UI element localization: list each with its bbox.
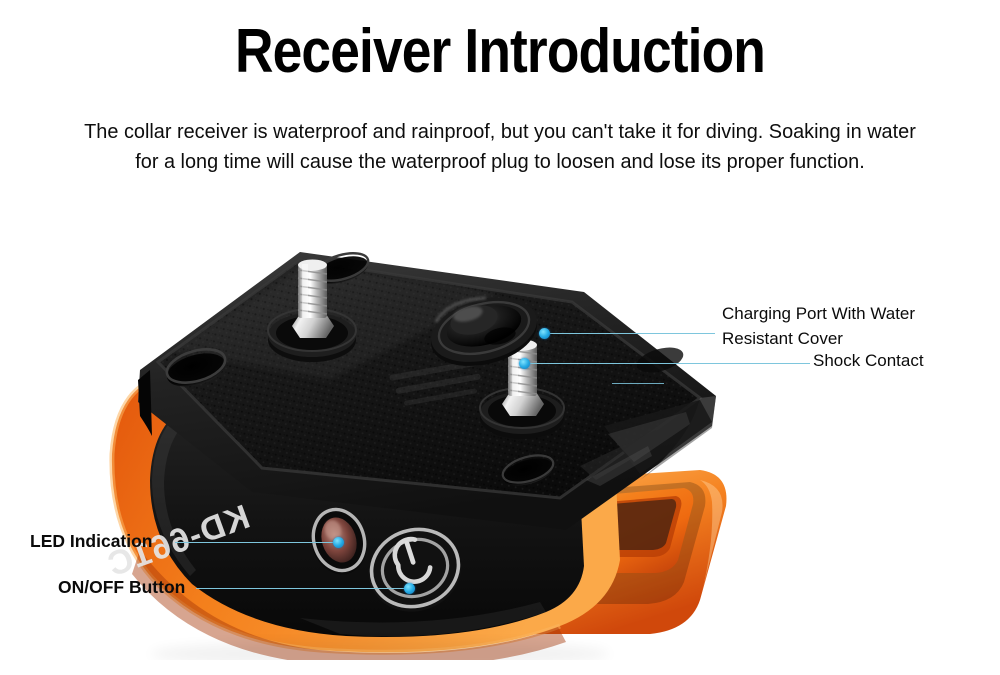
leader-line-charging-port [545, 333, 715, 334]
callout-label-charging-port: Charging Port With Water Resistant Cover [722, 301, 915, 351]
page-description: The collar receiver is waterproof and ra… [73, 117, 927, 177]
leader-line-onoff-button [196, 588, 410, 589]
leader-line-led-indication [175, 542, 339, 543]
leader-line-shock-contact [527, 363, 810, 364]
leader-line-edge-tick [612, 383, 664, 384]
callout-label-shock-contact: Shock Contact [813, 351, 924, 371]
page-title: Receiver Introduction [70, 20, 930, 84]
callout-label-onoff-button: ON/OFF Button [58, 577, 185, 598]
callout-dot-led-indication [333, 537, 344, 548]
callout-dot-charging-port [539, 328, 550, 339]
infographic-page: Receiver Introduction The collar receive… [0, 0, 1000, 675]
callout-label-charging-port-line2: Resistant Cover [722, 326, 915, 351]
callout-label-charging-port-line1: Charging Port With Water [722, 301, 915, 326]
callout-dot-shock-contact [519, 358, 530, 369]
callout-dot-onoff-button [404, 583, 415, 594]
callout-label-led-indication: LED Indication [30, 531, 153, 552]
